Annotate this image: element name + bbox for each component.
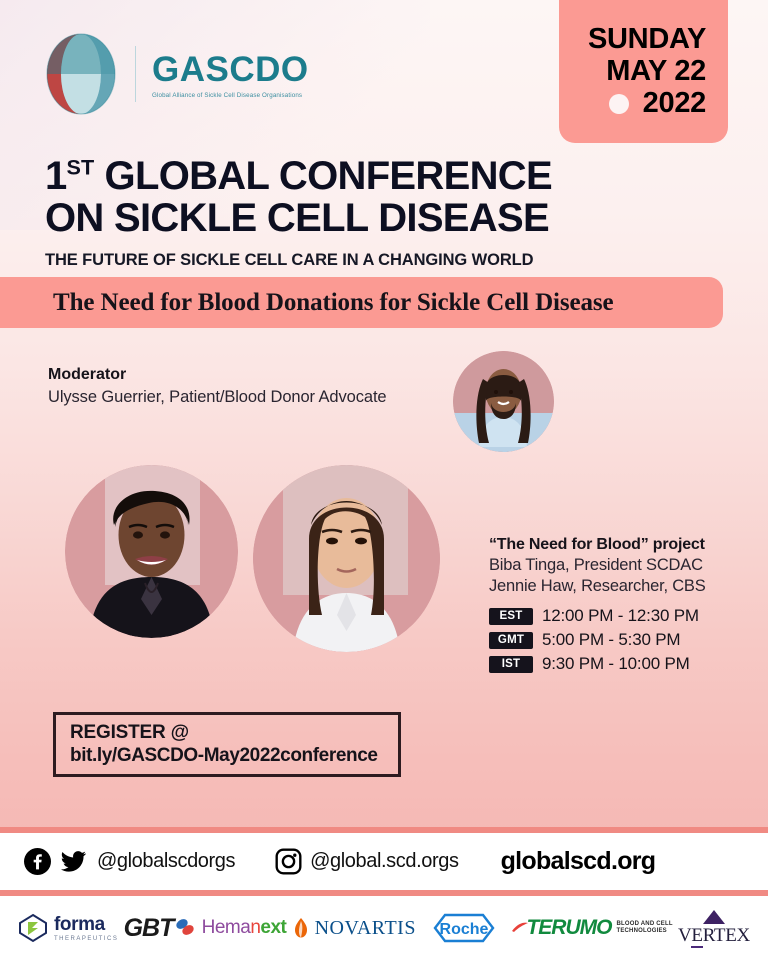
timezone-badge: IST — [489, 656, 533, 673]
moderator-portrait — [453, 351, 554, 452]
speaker-2: Jennie Haw, Researcher, CBS — [489, 577, 754, 596]
sponsor-novartis: NOVARTIS — [292, 917, 416, 940]
sponsor-subtitle: BLOOD AND CELLTECHNOLOGIES — [616, 921, 672, 936]
title-block: 1ST GLOBAL CONFERENCE ON SICKLE CELL DIS… — [45, 155, 685, 270]
social-handle-instagram: @global.scd.orgs — [310, 850, 458, 873]
moderator-block: Moderator Ulysse Guerrier, Patient/Blood… — [48, 366, 387, 407]
moderator-label: Moderator — [48, 366, 387, 384]
sponsor-vertex: VERTEX — [678, 909, 750, 947]
decorative-dot — [609, 94, 629, 114]
sponsor-gbt: GBT — [124, 914, 197, 943]
date-month-day: MAY 22 — [559, 57, 706, 87]
register-label: REGISTER @ — [70, 722, 398, 744]
sponsor-name: VERTEX — [678, 925, 750, 947]
speaker-portrait-jennie-haw — [253, 465, 440, 652]
vertex-e: E — [691, 925, 702, 948]
speaker-1: Biba Tinga, President SCDAC — [489, 556, 754, 575]
session-title: The Need for Blood Donations for Sickle … — [0, 289, 614, 317]
terumo-sub-line1: BLOOD AND CELL — [616, 921, 672, 927]
timezone-range: 5:00 PM - 5:30 PM — [542, 630, 680, 650]
project-title: “The Need for Blood” project — [489, 536, 754, 554]
roche-hex-icon: Roche — [421, 911, 507, 945]
register-box[interactable]: REGISTER @ bit.ly/GASCDO-May2022conferen… — [53, 712, 401, 777]
moderator-name: Ulysse Guerrier, Patient/Blood Donor Adv… — [48, 388, 387, 407]
hemanext-part-b: n — [250, 917, 260, 938]
sponsor-name: GBT — [124, 914, 174, 943]
portrait-figure — [65, 465, 238, 638]
ordinal-suffix: ST — [67, 155, 95, 180]
sponsor-subtitle: THERAPEUTICS — [54, 936, 118, 942]
sponsor-name: NOVARTIS — [315, 917, 416, 940]
gascdo-logo: GASCDO Global Alliance of Sickle Cell Di… — [45, 33, 309, 115]
logo-wordmark: GASCDO — [152, 52, 309, 87]
date-day: SUNDAY — [559, 25, 706, 55]
poster-header: GASCDO Global Alliance of Sickle Cell Di… — [0, 0, 768, 150]
date-year: 2022 — [643, 89, 706, 119]
speakers-block: “The Need for Blood” project Biba Tinga,… — [489, 536, 754, 678]
portrait-figure — [453, 351, 554, 452]
sponsor-terumo: TERUMO BLOOD AND CELLTECHNOLOGIES — [512, 916, 672, 940]
instagram-icon[interactable] — [275, 848, 302, 875]
sponsor-roche: Roche — [421, 911, 507, 945]
timezone-badge: EST — [489, 608, 533, 625]
conference-title-line2: ON SICKLE CELL DISEASE — [45, 197, 685, 239]
timezone-badge: GMT — [489, 632, 533, 649]
social-handle-main: @globalscdorgs — [97, 850, 235, 873]
novartis-flame-icon — [292, 917, 310, 939]
conference-subtitle: THE FUTURE OF SICKLE CELL CARE IN A CHAN… — [45, 251, 685, 270]
sponsor-bar: forma THERAPEUTICS GBT Hemanext NOVARTIS — [0, 896, 768, 960]
portrait-figure — [253, 465, 440, 652]
timezone-range: 12:00 PM - 12:30 PM — [542, 606, 699, 626]
facebook-icon[interactable] — [24, 848, 51, 875]
conference-title-line1: 1ST GLOBAL CONFERENCE — [45, 155, 685, 197]
hemanext-part-a: Hema — [202, 917, 251, 938]
vertex-rtex: RTEX — [703, 925, 750, 946]
ordinal-number: 1 — [45, 154, 67, 198]
terumo-sub-line2: TECHNOLOGIES — [616, 928, 666, 934]
conference-poster: GASCDO Global Alliance of Sickle Cell Di… — [0, 0, 768, 960]
timezone-list: EST 12:00 PM - 12:30 PM GMT 5:00 PM - 5:… — [489, 606, 754, 674]
website-url[interactable]: globalscd.org — [501, 847, 656, 876]
globe-logo-icon — [45, 33, 117, 115]
hemanext-part-c: ext — [260, 917, 286, 938]
vertex-v: V — [678, 925, 691, 946]
register-url[interactable]: bit.ly/GASCDO-May2022conference — [70, 745, 398, 767]
timezone-row: IST 9:30 PM - 10:00 PM — [489, 654, 754, 674]
vertex-triangle-icon — [701, 909, 727, 925]
timezone-row: EST 12:00 PM - 12:30 PM — [489, 606, 754, 626]
sponsor-name: forma — [54, 915, 118, 934]
forma-logo-icon — [18, 913, 48, 943]
sponsor-name: TERUMO — [526, 916, 611, 940]
sponsor-forma: forma THERAPEUTICS — [18, 913, 118, 943]
timezone-range: 9:30 PM - 10:00 PM — [542, 654, 690, 674]
speaker-portrait-biba-tinga — [65, 465, 238, 638]
session-banner: The Need for Blood Donations for Sickle … — [0, 277, 723, 328]
twitter-icon[interactable] — [60, 848, 87, 875]
gbt-cell-icon — [174, 917, 196, 939]
svg-text:Roche: Roche — [440, 921, 489, 938]
title-line1-rest: GLOBAL CONFERENCE — [94, 154, 552, 198]
logo-tagline: Global Alliance of Sickle Cell Disease O… — [152, 92, 309, 99]
sponsor-hemanext: Hemanext — [202, 917, 287, 939]
date-badge: SUNDAY MAY 22 2022 — [559, 0, 728, 143]
sponsor-name: Hemanext — [202, 917, 287, 939]
timezone-row: GMT 5:00 PM - 5:30 PM — [489, 630, 754, 650]
logo-divider — [135, 46, 136, 102]
social-footer: @globalscdorgs @global.scd.orgs globalsc… — [0, 833, 768, 890]
